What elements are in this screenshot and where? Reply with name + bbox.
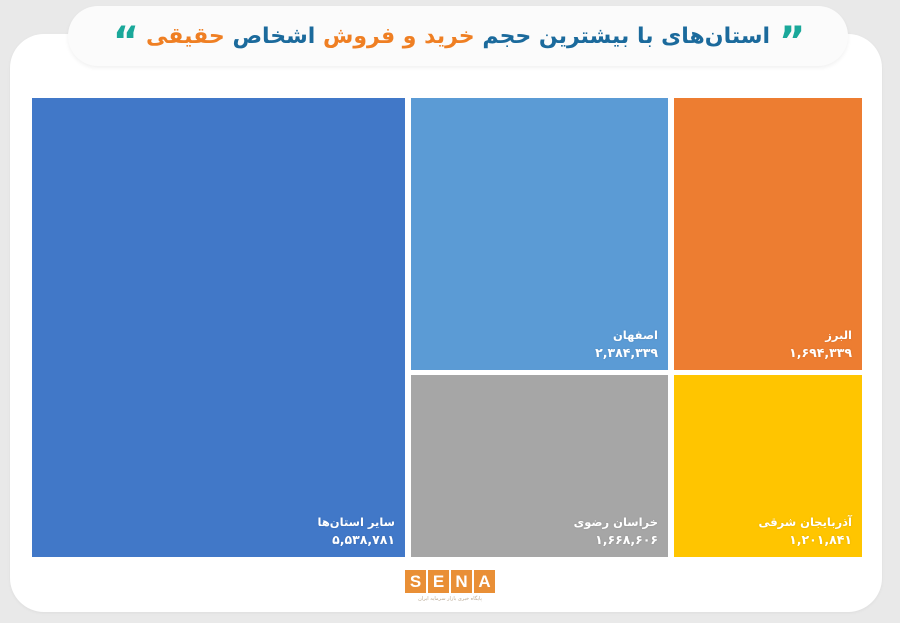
logo-letter-s: S [405, 570, 426, 593]
sena-logo: S E N A پایگاه خبری بازار سرمایه ایران [0, 570, 900, 602]
title-segment-3: اشخاص [232, 24, 315, 49]
page-title: استان‌های با بیشترین حجم خرید و فروش اشخ… [146, 24, 770, 49]
tile-name-khorasan: خراسان رضوی [574, 514, 658, 531]
logo-subtitle: پایگاه خبری بازار سرمایه ایران [418, 596, 482, 602]
logo-letter-a: A [474, 570, 495, 593]
tile-value-esfahan: ۲,۳۸۴,۳۳۹ [595, 344, 658, 362]
tile-name-esfahan: اصفهان [595, 327, 658, 344]
treemap-tile-other-provinces[interactable]: سایر استان‌ها ۵,۵۳۸,۷۸۱ [32, 98, 405, 557]
treemap-tile-azarbaijan-sharghi[interactable]: آذربایجان شرقی ۱,۲۰۱,۸۴۱ [674, 375, 862, 557]
tile-value-other: ۵,۵۳۸,۷۸۱ [318, 531, 395, 549]
treemap-tile-khorasan-razavi[interactable]: خراسان رضوی ۱,۶۶۸,۶۰۶ [411, 375, 668, 557]
treemap-tile-label: سایر استان‌ها ۵,۵۳۸,۷۸۱ [318, 514, 395, 549]
treemap-tile-alborz[interactable]: البرز ۱,۶۹۴,۳۳۹ [674, 98, 862, 370]
title-segment-2: خرید و فروش [323, 24, 475, 49]
tile-name-azarbaijan: آذربایجان شرقی [759, 514, 852, 531]
treemap-tile-label: البرز ۱,۶۹۴,۳۳۹ [789, 327, 852, 362]
tile-name-other: سایر استان‌ها [318, 514, 395, 531]
treemap-tile-label: خراسان رضوی ۱,۶۶۸,۶۰۶ [574, 514, 658, 549]
infographic-canvas: “ استان‌های با بیشترین حجم خرید و فروش ا… [0, 0, 900, 623]
tile-value-khorasan: ۱,۶۶۸,۶۰۶ [574, 531, 658, 549]
title-banner: “ استان‌های با بیشترین حجم خرید و فروش ا… [68, 6, 848, 66]
quote-open-icon: “ [113, 28, 137, 57]
tile-value-alborz: ۱,۶۹۴,۳۳۹ [789, 344, 852, 362]
title-segment-1: استان‌های با بیشترین حجم [482, 24, 770, 49]
logo-letter-e: E [428, 570, 449, 593]
tile-name-alborz: البرز [789, 327, 852, 344]
quote-close-icon: ” [779, 28, 803, 57]
treemap-tile-esfahan[interactable]: اصفهان ۲,۳۸۴,۳۳۹ [411, 98, 668, 370]
treemap-tile-label: آذربایجان شرقی ۱,۲۰۱,۸۴۱ [759, 514, 852, 549]
sena-wordmark: S E N A [405, 570, 495, 593]
title-segment-4: حقیقی [146, 24, 225, 49]
treemap-chart: سایر استان‌ها ۵,۵۳۸,۷۸۱ اصفهان ۲,۳۸۴,۳۳۹… [32, 98, 862, 557]
logo-letter-n: N [451, 570, 472, 593]
tile-value-azarbaijan: ۱,۲۰۱,۸۴۱ [759, 531, 852, 549]
treemap-tile-label: اصفهان ۲,۳۸۴,۳۳۹ [595, 327, 658, 362]
